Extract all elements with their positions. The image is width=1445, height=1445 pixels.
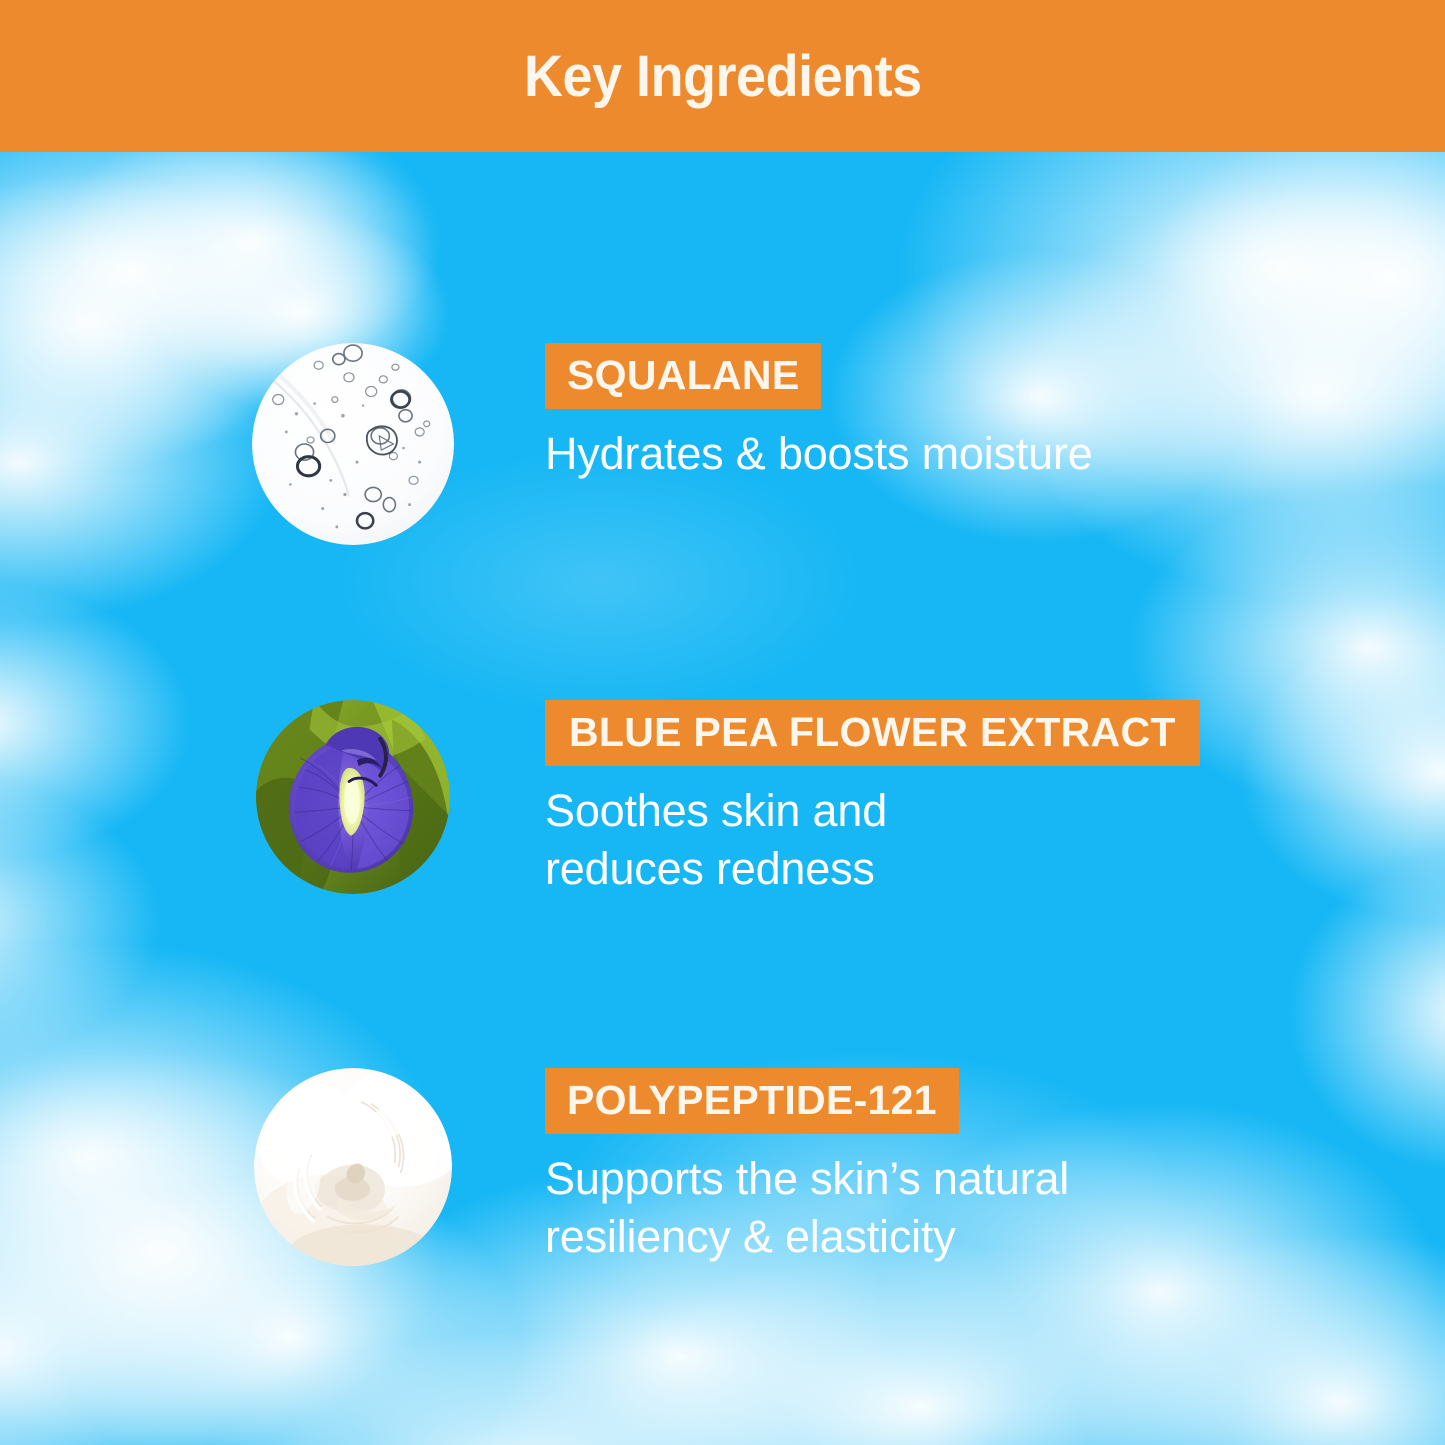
ingredient-description: Soothes skin and reduces redness <box>545 782 1200 898</box>
ingredient-thumbnail-squalane <box>252 343 454 545</box>
ingredients-list: SQUALANE Hydrates & boosts moisture <box>0 0 1445 1445</box>
ingredient-description: Hydrates & boosts moisture <box>545 425 1093 483</box>
key-ingredients-infographic: Key Ingredients <box>0 0 1445 1445</box>
ingredient-text-column: SQUALANE Hydrates & boosts moisture <box>545 343 1093 483</box>
ingredient-text-column: POLYPEPTIDE-121 Supports the skin’s natu… <box>545 1068 1069 1266</box>
ingredient-name-badge: BLUE PEA FLOWER EXTRACT <box>545 700 1200 766</box>
page-title: Key Ingredients <box>524 43 922 110</box>
ingredient-thumbnail-polypeptide-cream <box>254 1068 452 1266</box>
ingredient-thumbnail-blue-pea-flower <box>256 700 450 894</box>
ingredient-text-column: BLUE PEA FLOWER EXTRACT Soothes skin and… <box>545 700 1200 898</box>
ingredient-description: Supports the skin’s natural resiliency &… <box>545 1150 1069 1266</box>
ingredient-name-badge: POLYPEPTIDE-121 <box>545 1068 959 1134</box>
ingredient-name-badge: SQUALANE <box>545 343 821 409</box>
header-bar: Key Ingredients <box>0 0 1445 152</box>
